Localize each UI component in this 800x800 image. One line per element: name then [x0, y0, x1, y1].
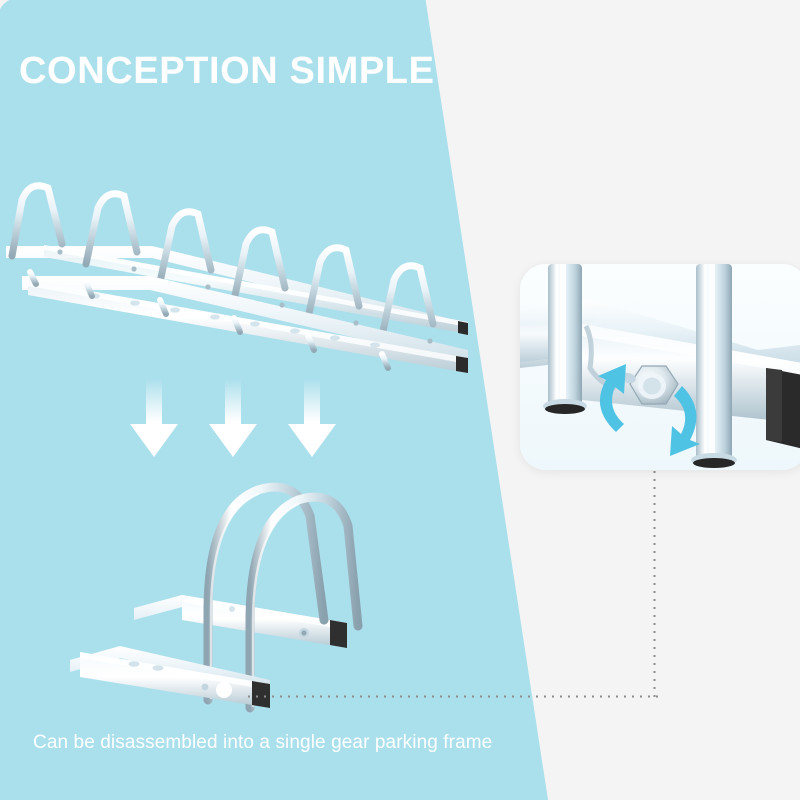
- dotted-connector-vertical: [653, 468, 656, 698]
- disassembly-arrows: [128, 378, 343, 458]
- arrow-down-icon: [286, 378, 338, 458]
- bolt-detail-photo: [520, 264, 800, 470]
- arrow-down-icon: [128, 378, 180, 458]
- feature-caption: Can be disassembled into a single gear p…: [33, 732, 492, 754]
- single-slot-bike-rack-image: [62, 468, 392, 730]
- panel-corner: [0, 0, 18, 18]
- arrow-down-icon: [207, 378, 259, 458]
- six-slot-bike-rack-image: [0, 168, 470, 403]
- dotted-connector-horizontal: [245, 695, 660, 698]
- product-feature-graphic: CONCEPTION SIMPLE: [0, 0, 800, 800]
- page-title: CONCEPTION SIMPLE: [19, 50, 435, 93]
